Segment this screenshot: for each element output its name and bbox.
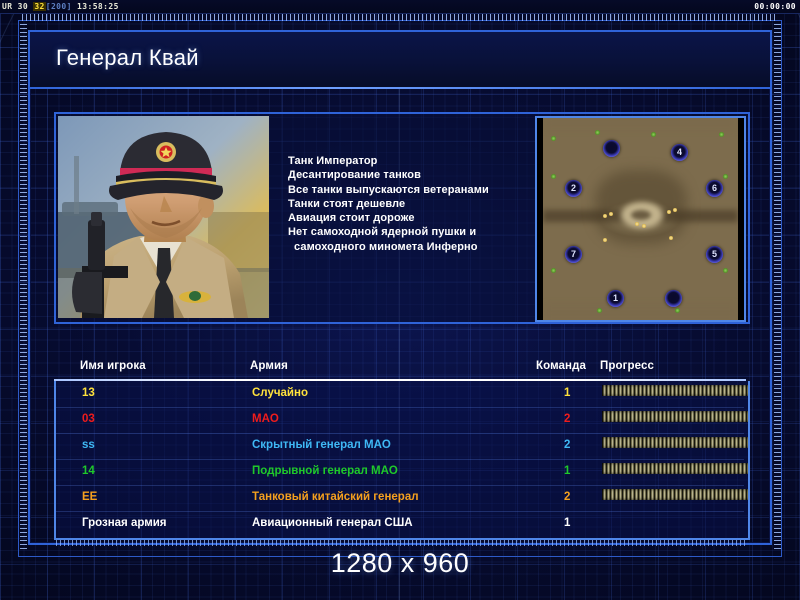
player-team: 2 [564,439,570,451]
map-start-position: 7 [565,246,582,263]
frame-top-line [18,20,782,21]
player-team: 1 [564,465,570,477]
window-titlebar: Генерал Квай [30,32,770,87]
table-row[interactable]: Грозная армия Авиационный генерал США 1 [56,511,744,537]
map-start-position: 4 [671,144,688,161]
map-preview[interactable]: 4 2 6 7 5 1 [535,116,746,322]
player-team: 2 [564,413,570,425]
map-center-plateau [595,170,687,244]
player-army: Авиационный генерал США [252,517,413,529]
table-row[interactable]: 14 Подрывной генерал MAO 1 [56,459,744,485]
map-center-hole [631,210,651,220]
map-supply [609,212,613,216]
player-team: 1 [564,387,570,399]
map-edge-top [543,118,738,128]
player-list-header: Имя игрока Армия Команда Прогресс [54,360,746,379]
general-kwai-portrait [58,116,269,318]
general-detail-panel: Танк Император Десантирование танков Все… [54,112,750,324]
player-army: MAO [252,413,279,425]
map-supply [669,236,673,240]
titlebar-underline [30,87,770,89]
general-info-window: Генерал Квай [28,30,772,545]
map-start-position: 6 [706,180,723,197]
ruler-left [20,24,27,552]
status-memory: [200] [46,2,72,11]
map-start-position: 5 [706,246,723,263]
map-start-position [603,140,620,157]
player-team: 2 [564,491,570,503]
map-supply [635,222,639,226]
map-tree [595,130,600,135]
map-tree [675,308,680,313]
page-title: Генерал Квай [56,45,199,71]
player-progress-bar [602,411,750,422]
player-name: 03 [82,413,95,425]
ruler-right [774,24,781,552]
frame-left-line [18,20,19,557]
map-river [543,210,738,222]
map-supply [667,210,671,214]
table-row[interactable]: 03 MAO 2 [56,407,744,433]
map-supply [642,224,646,228]
player-army: Скрытный генерал MAO [252,439,391,451]
status-build: UR 30 [2,2,33,11]
player-progress-bar [602,385,750,396]
portrait-artwork [58,116,269,318]
player-progress-bar [602,437,750,448]
player-name: Грозная армия [82,517,167,529]
top-status-bar: UR 30 32[200] 13:58:25 00:00:00 [0,0,800,14]
resolution-label: 1280 x 960 [0,548,800,579]
map-edge-bottom [543,306,738,320]
map-terrain: 4 2 6 7 5 1 [543,118,738,320]
status-timer: 00:00:00 [754,2,796,11]
player-name: ss [82,439,95,451]
table-row[interactable]: 13 Случайно 1 [56,381,744,407]
map-start-position: 1 [607,290,624,307]
game-screen: UR 30 32[200] 13:58:25 00:00:00 Генерал … [0,0,800,600]
player-list-body: 13 Случайно 1 03 MAO 2 ss Скрытный генер… [54,381,750,540]
column-header-progress: Прогресс [600,360,654,372]
map-tree [551,136,556,141]
player-army: Танковый китайский генерал [252,491,419,503]
status-left: UR 30 32[200] 13:58:25 [2,2,119,11]
player-progress-bar [602,463,750,474]
map-start-position: 2 [565,180,582,197]
table-row[interactable]: ss Скрытный генерал MAO 2 [56,433,744,459]
column-header-name: Имя игрока [80,360,146,372]
map-tree [551,268,556,273]
column-header-army: Армия [250,360,288,372]
player-list-panel: Имя игрока Армия Команда Прогресс 13 Слу… [54,360,746,540]
column-header-team: Команда [536,360,586,372]
map-supply [603,214,607,218]
map-tree [723,268,728,273]
map-tree [723,174,728,179]
player-name: EE [82,491,97,503]
player-army: Случайно [252,387,308,399]
table-row[interactable]: EE Танковый китайский генерал 2 [56,485,744,511]
map-supply [673,208,677,212]
ruler-bottom [56,540,746,546]
ruler-top [22,14,778,21]
map-tree [651,132,656,137]
map-supply [603,238,607,242]
map-tree [551,174,556,179]
map-tree [719,132,724,137]
player-progress-bar [602,489,750,500]
map-tree [597,308,602,313]
frame-right-line [781,20,782,557]
status-clock: 13:58:25 [72,2,119,11]
player-name: 13 [82,387,95,399]
player-army: Подрывной генерал MAO [252,465,398,477]
status-fps: 32 [33,2,45,11]
player-team: 1 [564,517,570,529]
player-name: 14 [82,465,95,477]
map-start-position [665,290,682,307]
